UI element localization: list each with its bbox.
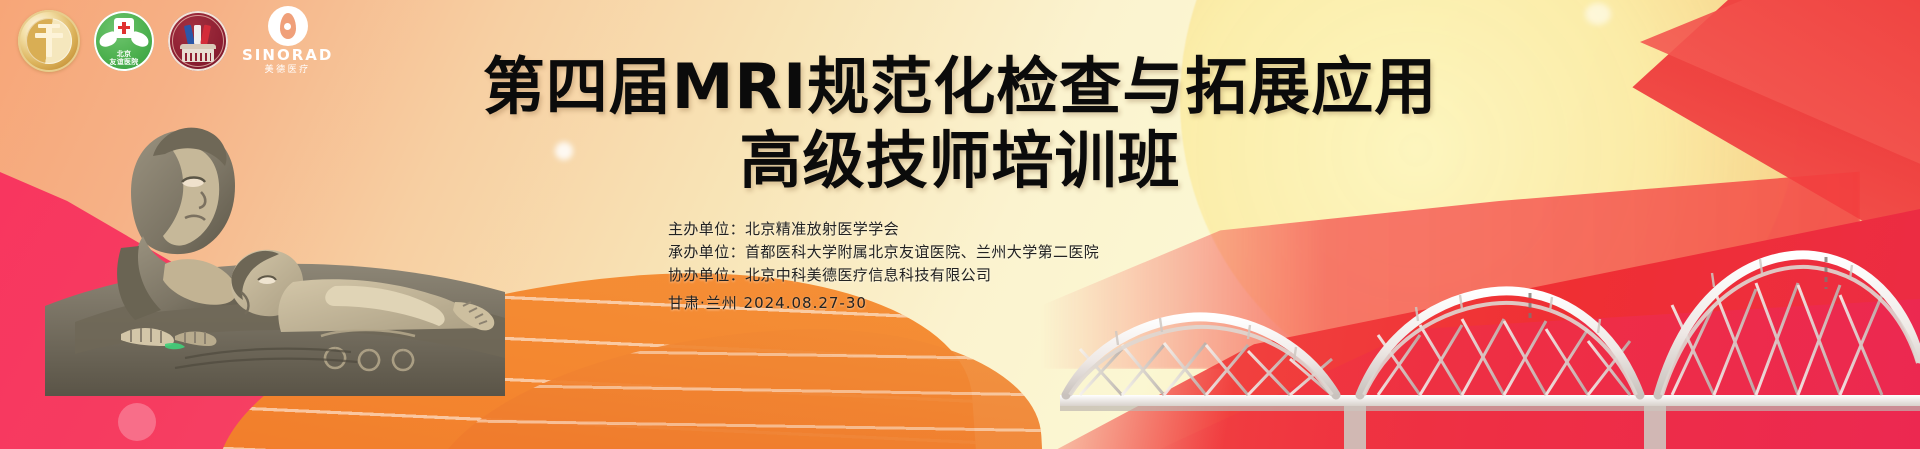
- sun-speck-decoration: [1585, 3, 1611, 25]
- sinorad-brand-text-cn: 美德医疗: [265, 65, 311, 75]
- beijing-friendship-hospital-logo: 北京 友谊医院: [94, 11, 154, 71]
- lanzhou-university-second-hospital-logo: [168, 11, 228, 71]
- dove-left-icon: [97, 30, 118, 48]
- organizer-line-host: 主办单位：北京精准放射医学学会: [668, 218, 1099, 241]
- friendship-hospital-label: 北京 友谊医院: [94, 50, 154, 66]
- gold-emblem-logo: [18, 10, 80, 72]
- sinorad-eye-icon: [268, 6, 308, 46]
- sinorad-brand-text: SINORAD: [242, 48, 333, 63]
- dove-right-icon: [129, 30, 150, 48]
- logo-row: 北京 友谊医院 SINORAD 美德医疗: [18, 6, 333, 75]
- mogao-reclining-buddha-illustration: [35, 96, 505, 396]
- gold-emblem-inner: [26, 18, 72, 64]
- friendship-hospital-label-line2: 友谊医院: [94, 58, 154, 66]
- sinorad-logo: SINORAD 美德医疗: [242, 6, 333, 75]
- organizer-line-coorganizer: 协办单位：北京中科美德医疗信息科技有限公司: [668, 264, 1099, 287]
- organizer-info: 主办单位：北京精准放射医学学会 承办单位：首都医科大学附属北京友谊医院、兰州大学…: [668, 218, 1099, 315]
- friendship-hospital-label-line1: 北京: [94, 50, 154, 58]
- hospital-building-icon: [182, 48, 214, 62]
- glow-dot-decoration: [555, 142, 573, 160]
- lanzhou-zhongshan-bridge-illustration: [1060, 219, 1920, 449]
- organizer-line-undertaker: 承办单位：首都医科大学附属北京友谊医院、兰州大学第二医院: [668, 241, 1099, 264]
- conference-banner: 北京 友谊医院 SINORAD 美德医疗 第四届MRI规范化检查与拓展应用 高级…: [0, 0, 1920, 449]
- pink-bubble-decoration-2: [118, 403, 156, 441]
- venue-and-date: 甘肃·兰州 2024.08.27-30: [668, 292, 1099, 315]
- gold-emblem-cross-icon: [46, 25, 52, 57]
